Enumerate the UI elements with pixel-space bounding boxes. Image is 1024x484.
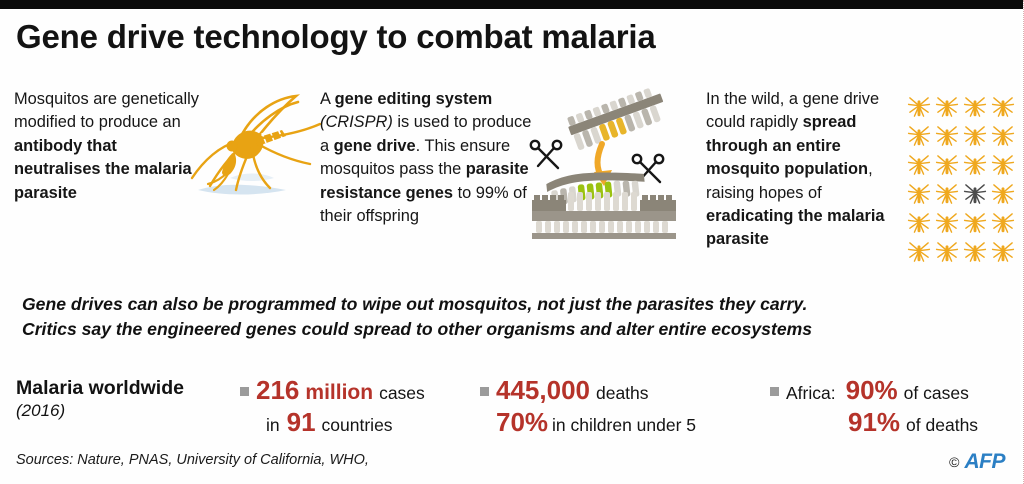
stat-africa-cases-value: 90% (846, 375, 898, 405)
stat-countries-label: countries (322, 415, 393, 435)
mosquito-icon (990, 210, 1016, 236)
stats-heading: Malaria worldwide (16, 376, 236, 400)
mosquito-icon (906, 123, 932, 149)
stat-block-cases: 216millioncases in91countries (240, 376, 425, 440)
mosquito-icon (906, 210, 932, 236)
mosquito-icon (934, 181, 960, 207)
stat-countries-prefix: in (266, 415, 280, 435)
stat-children-value: 70% (496, 407, 548, 437)
scissors-left-icon (531, 141, 561, 168)
infographic-root: Gene drive technology to combat malaria … (0, 0, 1024, 484)
bullet-square-icon (240, 387, 249, 396)
bullet-square-icon (770, 387, 779, 396)
afp-logo: © AFP (949, 450, 1005, 474)
stat-cases-line-1: 216millioncases (240, 376, 425, 408)
mosquito-icon (934, 239, 960, 265)
stat-africa-line-1: Africa:90%of cases (770, 376, 978, 408)
column-2-text: A gene editing system (CRISPR) is used t… (320, 88, 535, 228)
stats-year: (2016) (16, 400, 236, 422)
banner-callout: Gene drives can also be programmed to wi… (22, 292, 1012, 342)
stat-children-label: in children under 5 (552, 415, 696, 435)
stat-cases-label: cases (379, 383, 425, 403)
afp-wordmark: AFP (965, 450, 1006, 474)
crispr-dna-illustration (524, 82, 694, 242)
mosquito-icon (962, 94, 988, 120)
mosquito-illustration (178, 86, 338, 206)
banner-line-1: Gene drives can also be programmed to wi… (22, 292, 1012, 317)
mosquito-icon (934, 123, 960, 149)
mosquito-icon-highlighted (962, 181, 988, 207)
mosquito-icon (990, 181, 1016, 207)
stat-block-africa: Africa:90%of cases 91%of deaths (770, 376, 978, 440)
mosquito-icon (990, 239, 1016, 265)
sources-text: Sources: Nature, PNAS, University of Cal… (16, 452, 369, 468)
mosquito-icon (906, 94, 932, 120)
stat-cases-value: 216 (256, 375, 299, 405)
stat-africa-region: Africa: (786, 383, 836, 403)
banner-line-2: Critics say the engineered genes could s… (22, 317, 1012, 342)
stat-cases-line-2: in91countries (240, 408, 425, 440)
stat-africa-deaths-label: of deaths (906, 415, 978, 435)
statistics-section: Malaria worldwide (2016) 216millioncases… (0, 376, 1024, 442)
top-black-bar (0, 0, 1024, 9)
stat-deaths-line-1: 445,000deaths (480, 376, 696, 408)
mosquito-icon (934, 152, 960, 178)
mosquito-icon (906, 152, 932, 178)
stat-deaths-value: 445,000 (496, 375, 590, 405)
mosquito-icon (962, 123, 988, 149)
mosquito-icon (990, 152, 1016, 178)
mosquito-icon (990, 123, 1016, 149)
host-genome (532, 192, 676, 239)
stat-countries-value: 91 (287, 407, 316, 437)
mosquito-icon (990, 94, 1016, 120)
three-column-section: Mosquitos are genetically modified to pr… (0, 88, 1024, 273)
stat-block-deaths: 445,000deaths 70%in children under 5 (480, 376, 696, 440)
copyright-icon: © (949, 454, 959, 470)
column-3-text: In the wild, a gene drive could rapidly … (706, 88, 906, 252)
column-1-text: Mosquitos are genetically modified to pr… (14, 88, 199, 205)
stat-africa-line-2: 91%of deaths (770, 408, 978, 440)
stat-cases-unit: million (305, 381, 373, 404)
mosquito-icon (962, 239, 988, 265)
mosquito-icon (934, 210, 960, 236)
mosquito-icon (962, 152, 988, 178)
stat-africa-deaths-value: 91% (848, 407, 900, 437)
page-title: Gene drive technology to combat malaria (16, 18, 656, 56)
mosquito-population-grid (905, 92, 1017, 266)
mosquito-icon (934, 94, 960, 120)
bullet-square-icon (480, 387, 489, 396)
stat-africa-cases-label: of cases (904, 383, 969, 403)
mosquito-icon (906, 181, 932, 207)
mosquito-icon (906, 239, 932, 265)
stat-deaths-line-2: 70%in children under 5 (480, 408, 696, 440)
mosquito-icon (962, 210, 988, 236)
stat-deaths-label: deaths (596, 383, 649, 403)
stats-heading-block: Malaria worldwide (2016) (16, 376, 236, 422)
